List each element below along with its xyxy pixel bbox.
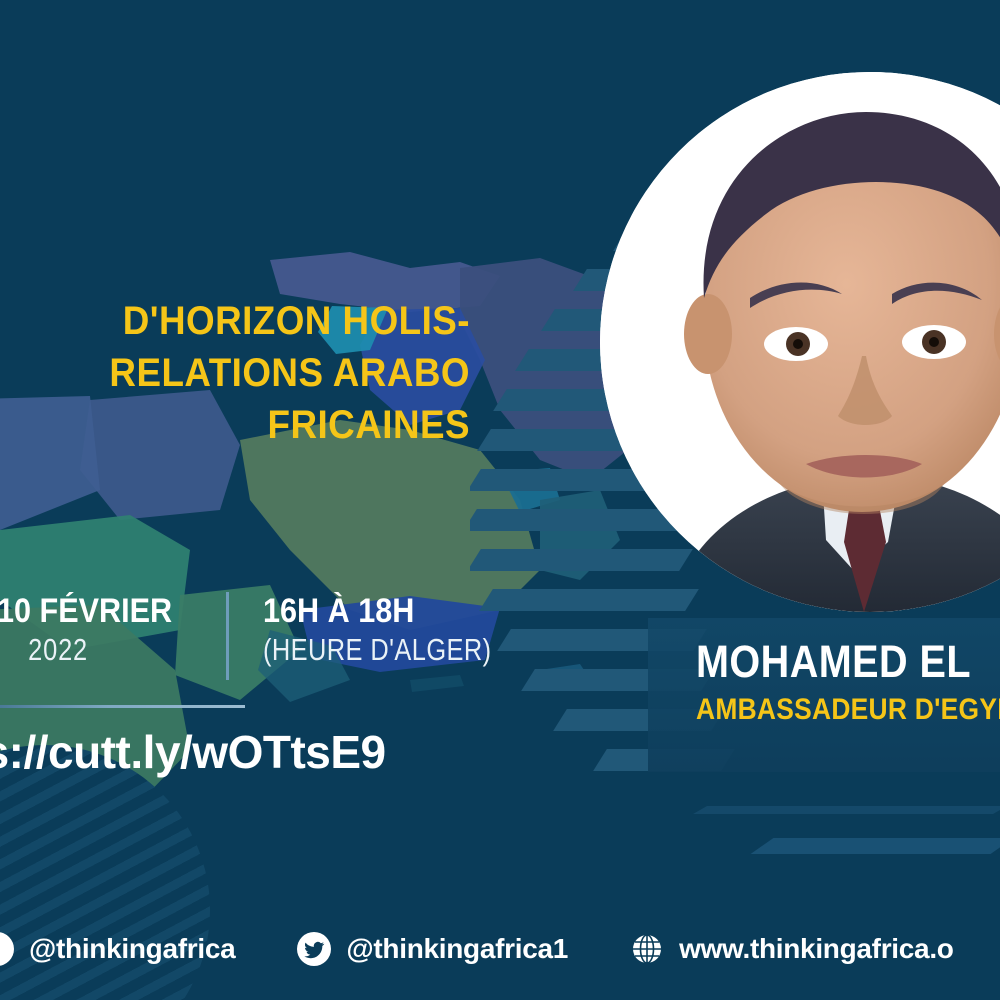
event-title-line-1: D'HORIZON HOLIS- [0,295,470,347]
social-handle-twitter: @thinkingafrica1 [346,933,568,965]
event-title: D'HORIZON HOLIS- RELATIONS ARABO FRICAIN… [0,295,470,451]
social-item-website[interactable]: www.thinkingafrica.o [630,932,954,966]
event-datetime: 10 FÉVRIER 2022 16H À 18H (HEURE D'ALGER… [0,592,575,680]
event-title-line-2: RELATIONS ARABO [0,347,470,399]
speaker-role: AMBASSADEUR D'EGYP [696,692,1000,728]
decorative-swoosh [751,838,1000,854]
event-time: 16H À 18H [263,592,514,630]
social-item-facebook[interactable]: @thinkingafrica [0,932,235,966]
poster-canvas: MOHAMED EL AMBASSADEUR D'EGYP D'HORIZON … [0,0,1000,1000]
event-time-block: 16H À 18H (HEURE D'ALGER) [229,592,576,670]
section-divider [0,705,245,708]
event-title-line-3: FRICAINES [0,399,470,451]
globe-icon[interactable] [630,932,664,966]
portrait-ear-left [684,294,732,374]
event-date: 10 FÉVRIER [0,592,172,630]
event-year: 2022 [0,630,157,670]
event-date-block: 10 FÉVRIER 2022 [0,592,226,670]
twitter-icon[interactable] [297,932,331,966]
speaker-name: MOHAMED EL [696,636,1000,688]
social-handle-website: www.thinkingafrica.o [679,933,954,965]
social-bar: @thinkingafrica @thinkingafrica1 [0,918,1000,980]
social-handle-facebook: @thinkingafrica [29,933,235,965]
social-item-twitter[interactable]: @thinkingafrica1 [297,932,568,966]
registration-link[interactable]: ps://cutt.ly/wOTtsE9 [0,722,426,782]
event-timezone: (HEURE D'ALGER) [263,630,492,670]
decorative-swoosh [693,806,1000,814]
speaker-name-banner: MOHAMED EL AMBASSADEUR D'EGYP [648,618,1000,772]
facebook-icon[interactable] [0,932,14,966]
